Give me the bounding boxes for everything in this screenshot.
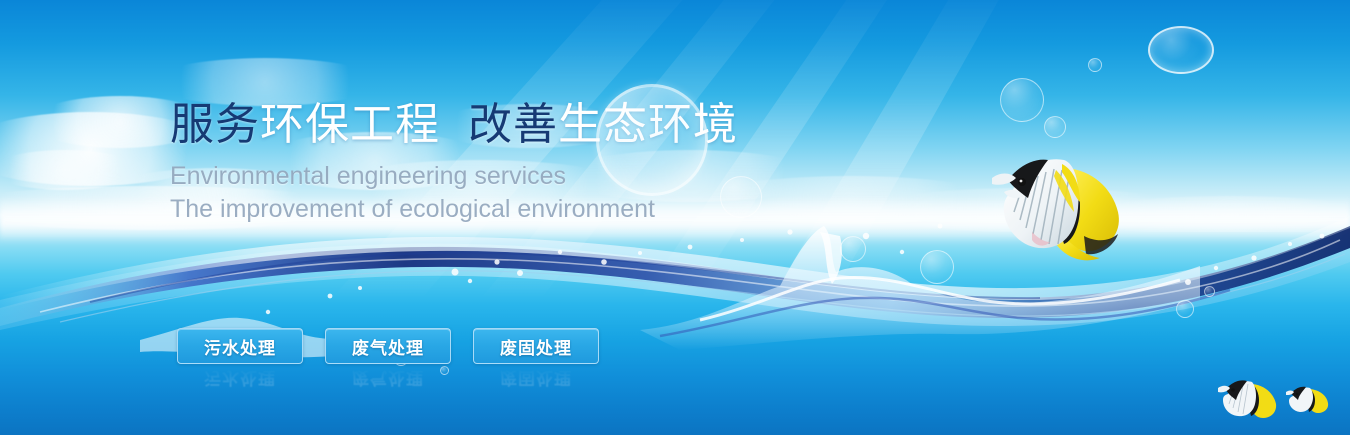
title-segment-dark-1: 服务 xyxy=(170,100,260,149)
service-button-wrap-solid-waste: 废固处理 废固处理 xyxy=(473,328,599,364)
hero-banner: 服务环保工程改善生态环境 Environmental engineering s… xyxy=(0,0,1350,435)
page-subtitle: Environmental engineering services The i… xyxy=(170,160,655,226)
butterflyfish-small-icon xyxy=(1286,382,1330,416)
service-button-solid-waste[interactable]: 废固处理 xyxy=(473,328,599,364)
service-button-row: 污水处理 污水处理 废气处理 废气处理 废固处理 废固处理 xyxy=(177,328,599,364)
page-title: 服务环保工程改善生态环境 xyxy=(170,99,738,151)
service-button-wastewater[interactable]: 污水处理 xyxy=(177,328,303,364)
title-segment-dark-2: 改善 xyxy=(468,100,558,149)
service-button-waste-gas[interactable]: 废气处理 xyxy=(325,328,451,364)
title-segment-light-2: 生态环境 xyxy=(558,100,738,149)
service-button-label: 废气处理 xyxy=(352,334,424,359)
service-button-wrap-waste-gas: 废气处理 废气处理 xyxy=(325,328,451,364)
service-button-label: 污水处理 xyxy=(204,334,276,359)
title-segment-light-1: 环保工程 xyxy=(260,100,440,149)
butterflyfish-small-icon xyxy=(1218,374,1280,422)
service-button-wrap-wastewater: 污水处理 污水处理 xyxy=(177,328,303,364)
butterflyfish-icon xyxy=(988,140,1128,268)
subtitle-line-2: The improvement of ecological environmen… xyxy=(170,193,655,226)
subtitle-line-1: Environmental engineering services xyxy=(170,160,655,193)
service-button-label: 废固处理 xyxy=(500,334,572,359)
